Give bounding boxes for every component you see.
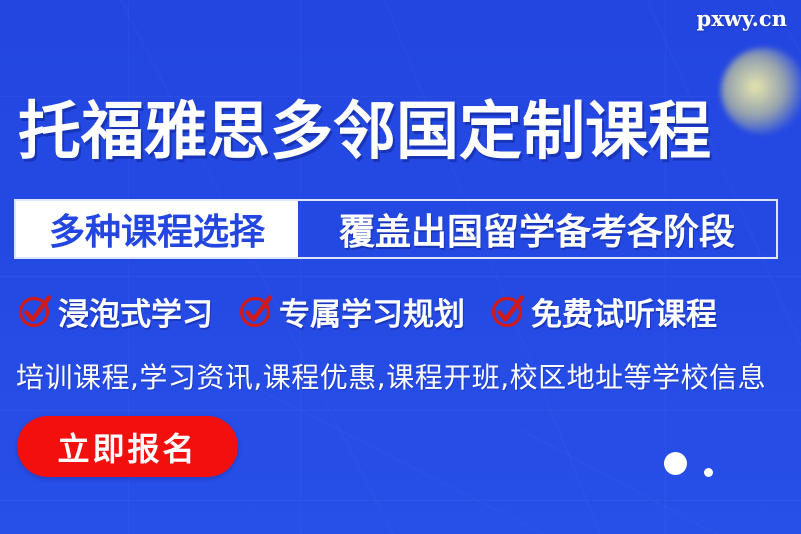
feature-label: 浸泡式学习 — [58, 289, 213, 334]
subtitle-bar: 多种课程选择 覆盖出国留学备考各阶段 — [14, 199, 778, 259]
check-circle-icon — [18, 294, 52, 328]
subtitle-left-label: 多种课程选择 — [16, 201, 298, 257]
site-watermark: pxwy.cn — [697, 6, 787, 31]
page-title: 托福雅思多邻国定制课程 — [18, 96, 783, 168]
feature-item: 浸泡式学习 — [18, 289, 213, 334]
check-circle-icon — [491, 294, 525, 328]
decorative-dot-large — [664, 452, 687, 475]
decorative-dot-small — [704, 468, 713, 477]
check-circle-icon — [239, 294, 273, 328]
info-text: 培训课程,学习资讯,课程优惠,课程开班,校区地址等学校信息 — [16, 356, 788, 396]
feature-label: 专属学习规划 — [279, 289, 465, 334]
promo-banner: pxwy.cn 托福雅思多邻国定制课程 多种课程选择 覆盖出国留学备考各阶段 浸… — [0, 0, 801, 534]
feature-item: 专属学习规划 — [239, 289, 465, 334]
feature-list: 浸泡式学习 专属学习规划 免费试听课程 — [18, 290, 786, 332]
subtitle-right-label: 覆盖出国留学备考各阶段 — [298, 201, 776, 257]
signup-button[interactable]: 立即报名 — [17, 416, 238, 477]
feature-label: 免费试听课程 — [531, 289, 717, 334]
feature-item: 免费试听课程 — [491, 289, 717, 334]
